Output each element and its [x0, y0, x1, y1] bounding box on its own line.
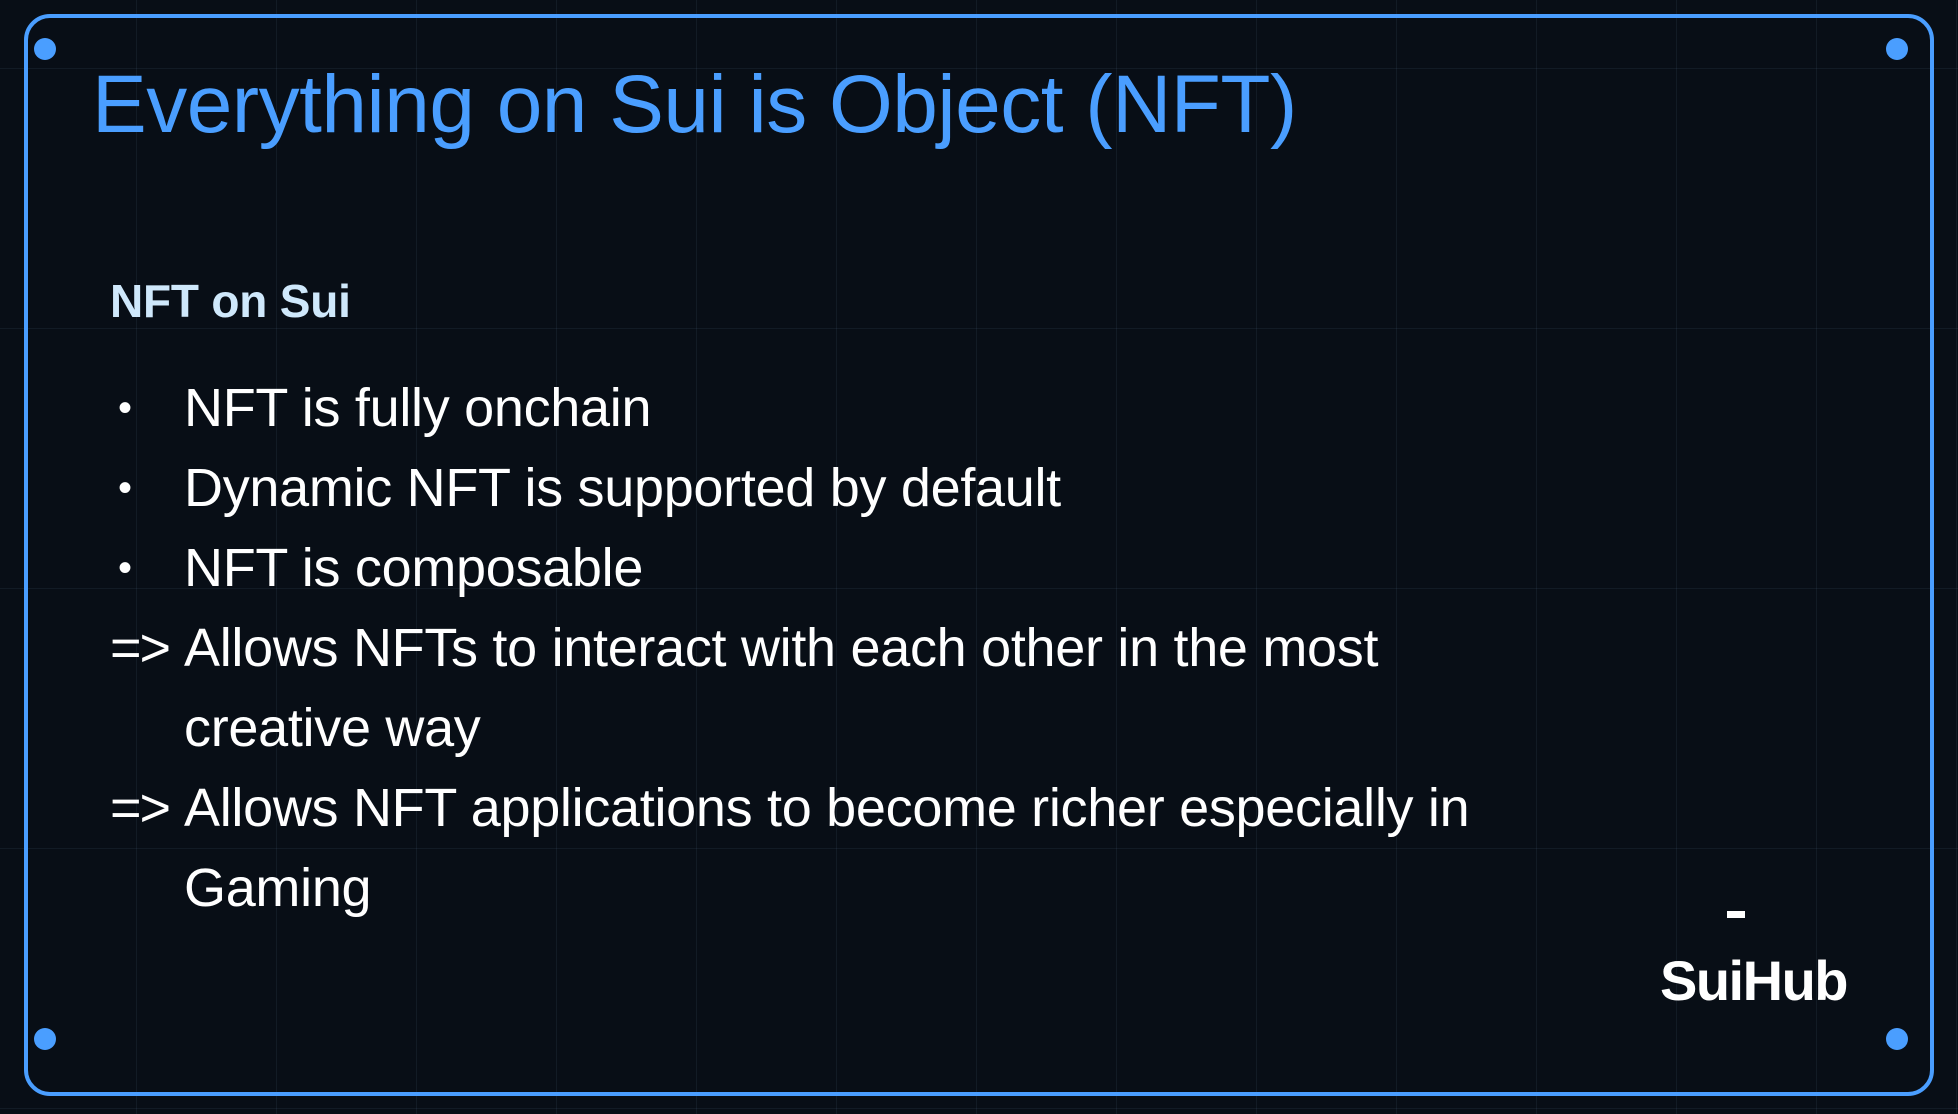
logo-text-sui: Sui	[1660, 948, 1743, 1013]
arrow-marker-icon: =>	[110, 608, 184, 688]
list-item: • NFT is fully onchain	[110, 368, 1870, 448]
implication-text-line1: Allows NFTs to interact with each other …	[184, 608, 1910, 688]
bullet-text: Dynamic NFT is supported by default	[184, 448, 1870, 528]
implications-block: => Allows NFTs to interact with each oth…	[110, 608, 1910, 928]
slide-title: Everything on Sui is Object (NFT)	[92, 62, 1297, 148]
implication-item: => Allows NFT applications to become ric…	[110, 768, 1910, 848]
logo-text-h: H	[1743, 949, 1782, 1012]
logo-letter-h-wrap: H	[1743, 948, 1782, 1013]
implication-text-line2: Gaming	[110, 848, 1910, 928]
section-heading: NFT on Sui	[110, 274, 351, 328]
arrow-marker-icon: =>	[110, 768, 184, 848]
implication-text-line1: Allows NFT applications to become richer…	[184, 768, 1910, 848]
bullet-text: NFT is fully onchain	[184, 368, 1870, 448]
implication-text-line2: creative way	[110, 688, 1910, 768]
list-item: • NFT is composable	[110, 528, 1870, 608]
suihub-logo: Sui H ub	[1660, 948, 1847, 1013]
bullet-marker-icon: •	[110, 368, 184, 448]
logo-text-ub: ub	[1782, 948, 1847, 1013]
implication-item: => Allows NFTs to interact with each oth…	[110, 608, 1910, 688]
logo-h-crossbar-accent	[1727, 911, 1745, 918]
bullet-list: • NFT is fully onchain • Dynamic NFT is …	[110, 368, 1870, 608]
slide-content: Everything on Sui is Object (NFT) NFT on…	[0, 0, 1958, 1114]
list-item: • Dynamic NFT is supported by default	[110, 448, 1870, 528]
bullet-text: NFT is composable	[184, 528, 1870, 608]
bullet-marker-icon: •	[110, 448, 184, 528]
bullet-marker-icon: •	[110, 528, 184, 608]
